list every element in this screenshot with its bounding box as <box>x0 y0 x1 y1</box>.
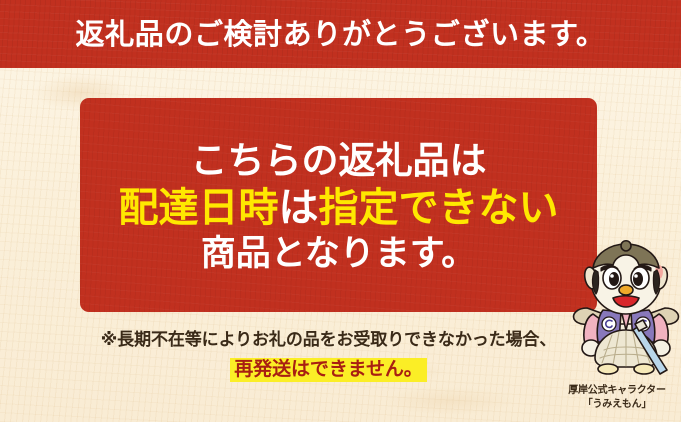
notice-line-2-segment-delivery-datetime: 配達日時 <box>119 185 279 231</box>
umiemon-mascot-icon <box>571 238 681 378</box>
notice-line-1: こちらの返礼品は <box>191 140 487 181</box>
notice-line-2-segment-particle: は <box>279 185 319 231</box>
header-title: 返礼品のご検討ありがとうございます。 <box>76 20 606 49</box>
footnote-line-2: 再発送はできません。 <box>80 358 577 382</box>
mascot-caption: 厚岸公式キャラクター 「うみえもん」 <box>553 384 681 411</box>
notice-line-2-segment-cannot-specify: 指定できない <box>319 185 559 231</box>
footnote-line-1: ※長期不在等によりお礼の品をお受取りできなかった場合、 <box>80 330 577 351</box>
mascot-caption-line-1: 厚岸公式キャラクター <box>553 384 681 398</box>
notice-line-3: 商品となります。 <box>201 235 476 274</box>
notice-line-2: 配達日時は指定できない <box>119 186 559 231</box>
footnote: ※長期不在等によりお礼の品をお受取りできなかった場合、 再発送はできません。 <box>80 330 577 382</box>
header-band: 返礼品のご検討ありがとうございます。 <box>0 0 681 68</box>
promo-banner: 返礼品のご検討ありがとうございます。 こちらの返礼品は 配達日時は指定できない … <box>0 0 681 422</box>
notice-panel: こちらの返礼品は 配達日時は指定できない 商品となります。 <box>80 98 597 312</box>
footnote-highlight-no-resend: 再発送はできません。 <box>230 358 426 382</box>
mascot-caption-line-2: 「うみえもん」 <box>553 398 681 412</box>
